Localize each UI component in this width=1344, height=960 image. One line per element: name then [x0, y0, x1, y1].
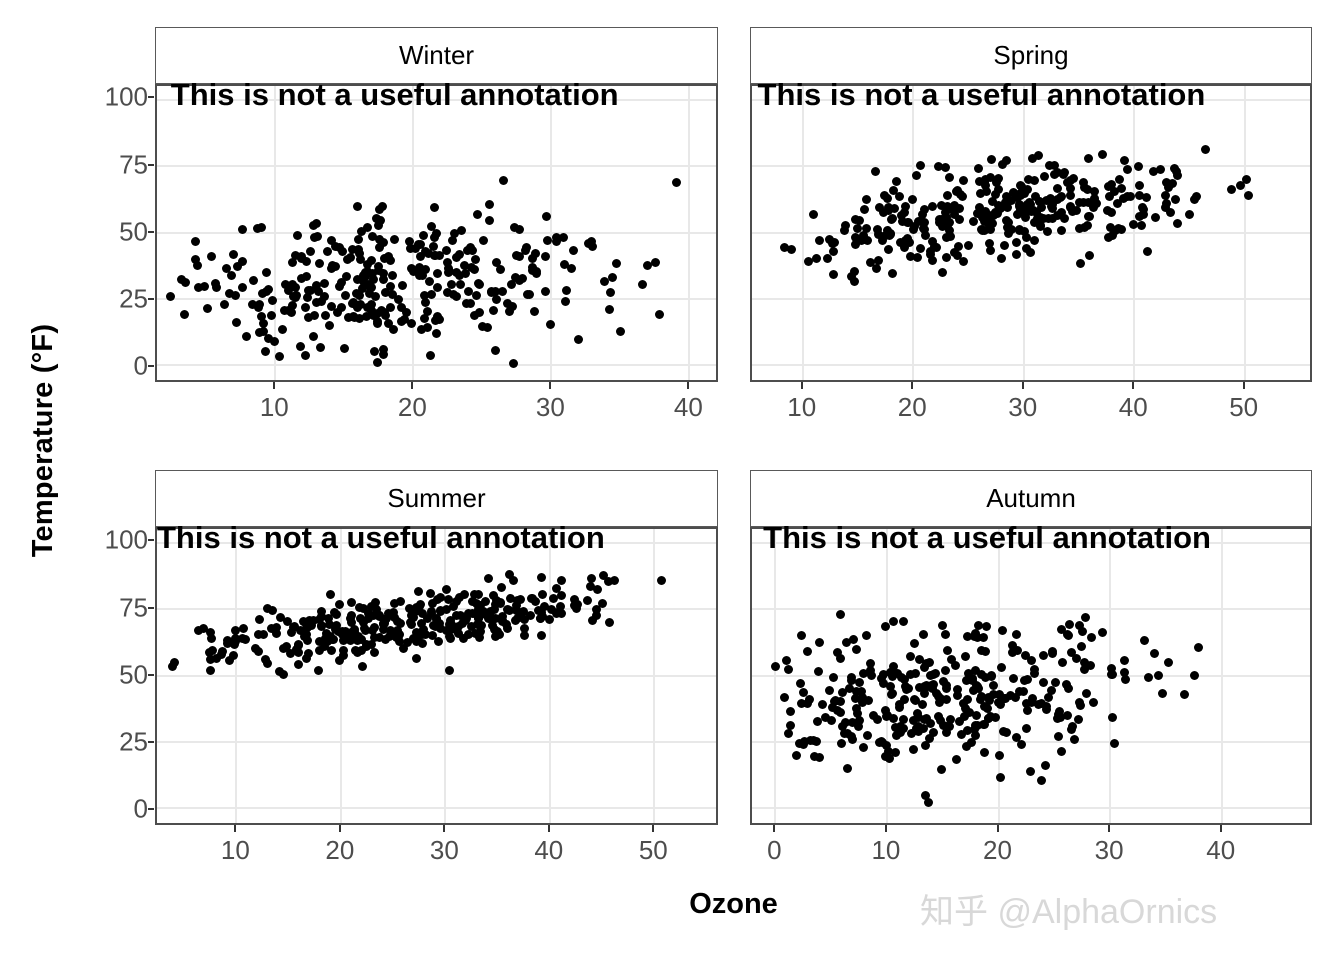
scatter-point [1084, 154, 1093, 163]
scatter-point [270, 337, 279, 346]
scatter-point [1180, 690, 1189, 699]
scatter-point [287, 308, 296, 317]
y-tick-mark [148, 96, 154, 98]
x-tick-mark [1220, 825, 1222, 832]
scatter-point [418, 639, 427, 648]
scatter-point [989, 211, 998, 220]
scatter-point [1012, 238, 1021, 247]
scatter-point [387, 631, 396, 640]
scatter-point [655, 310, 664, 319]
scatter-point [288, 280, 297, 289]
scatter-point [922, 681, 931, 690]
scatter-point [1162, 199, 1171, 208]
scatter-point [1166, 208, 1175, 217]
scatter-point [809, 210, 818, 219]
scatter-point [1081, 613, 1090, 622]
scatter-point [1156, 165, 1165, 174]
scatter-point [925, 658, 934, 667]
scatter-point [1173, 219, 1182, 228]
scatter-point [1135, 181, 1144, 190]
scatter-point [882, 712, 891, 721]
scatter-point [316, 343, 325, 352]
scatter-point [313, 232, 322, 241]
scatter-point [1072, 654, 1081, 663]
gridline-horizontal [752, 298, 1310, 300]
scatter-point [804, 257, 813, 266]
scatter-point [341, 291, 350, 300]
scatter-point [446, 625, 455, 634]
gridline-horizontal [752, 165, 1310, 167]
scatter-point [859, 743, 868, 752]
scatter-point [1048, 204, 1057, 213]
scatter-point [938, 621, 947, 630]
scatter-point [239, 624, 248, 633]
scatter-point [254, 647, 263, 656]
scatter-point [442, 585, 451, 594]
x-tick-label: 50 [639, 835, 668, 866]
gridline-vertical [340, 529, 342, 823]
y-tick-mark [148, 298, 154, 300]
y-tick-mark [148, 674, 154, 676]
annotation-spring: This is not a useful annotation [758, 77, 1206, 113]
scatter-point [858, 698, 867, 707]
scatter-point [996, 773, 1005, 782]
scatter-point [616, 327, 625, 336]
scatter-point [888, 689, 897, 698]
scatter-point [815, 638, 824, 647]
scatter-point [1227, 185, 1236, 194]
scatter-point [849, 635, 858, 644]
scatter-point [358, 662, 367, 671]
scatter-point [426, 351, 435, 360]
scatter-point [1030, 236, 1039, 245]
annotation-summer: This is not a useful annotation [157, 520, 605, 556]
scatter-point [1064, 631, 1073, 640]
scatter-point [208, 646, 217, 655]
scatter-point [326, 590, 335, 599]
scatter-point [1135, 212, 1144, 221]
scatter-point [479, 236, 488, 245]
scatter-point [905, 238, 914, 247]
scatter-point [1075, 698, 1084, 707]
scatter-point [312, 219, 321, 228]
scatter-point [335, 282, 344, 291]
scatter-point [784, 665, 793, 674]
scatter-point [1020, 676, 1029, 685]
scatter-point [1137, 221, 1146, 230]
scatter-point [997, 663, 1006, 672]
scatter-point [420, 314, 429, 323]
scatter-point [225, 656, 234, 665]
scatter-point [369, 311, 378, 320]
scatter-point [878, 738, 887, 747]
scatter-point [916, 161, 925, 170]
scatter-point [881, 622, 890, 631]
scatter-point [1143, 247, 1152, 256]
watermark: 知乎 @AlphaOrnics [920, 884, 1217, 933]
y-tick-label: 75 [78, 149, 148, 180]
scatter-point [450, 229, 459, 238]
scatter-point [1036, 213, 1045, 222]
scatter-point [1120, 156, 1129, 165]
x-tick-label: 40 [1119, 392, 1148, 423]
scatter-point [1057, 747, 1066, 756]
scatter-point [1040, 172, 1049, 181]
scatter-point [904, 684, 913, 693]
scatter-point [431, 251, 440, 260]
scatter-point [362, 642, 371, 651]
scatter-point [1037, 203, 1046, 212]
scatter-point [484, 574, 493, 583]
scatter-point [354, 235, 363, 244]
x-axis-autumn: 010203040 [750, 825, 1312, 871]
scatter-point [954, 242, 963, 251]
scatter-point [461, 269, 470, 278]
scatter-point [541, 287, 550, 296]
scatter-point [315, 259, 324, 268]
scatter-point [914, 727, 923, 736]
gridline-horizontal [157, 807, 716, 809]
gridline-vertical [1133, 86, 1135, 380]
scatter-point [851, 215, 860, 224]
scatter-point [651, 258, 660, 267]
scatter-point [386, 256, 395, 265]
scatter-point [498, 287, 507, 296]
scatter-point [433, 269, 442, 278]
scatter-point [206, 655, 215, 664]
scatter-point [995, 751, 1004, 760]
scatter-point [991, 713, 1000, 722]
scatter-point [1087, 633, 1096, 642]
scatter-point [815, 236, 824, 245]
scatter-point [567, 264, 576, 273]
scatter-point [838, 688, 847, 697]
x-tick-label: 30 [430, 835, 459, 866]
gridline-vertical [802, 86, 804, 380]
x-tick-label: 10 [221, 835, 250, 866]
scatter-point [962, 742, 971, 751]
scatter-point [220, 300, 229, 309]
scatter-point [942, 722, 951, 731]
scatter-point [860, 205, 869, 214]
scatter-point [191, 237, 200, 246]
scatter-point [1079, 198, 1088, 207]
scatter-point [829, 270, 838, 279]
scatter-point [1004, 218, 1013, 227]
scatter-point [638, 280, 647, 289]
scatter-point [812, 254, 821, 263]
scatter-point [606, 288, 615, 297]
scatter-point [414, 587, 423, 596]
scatter-point [848, 718, 857, 727]
scatter-point [899, 715, 908, 724]
scatter-point [537, 631, 546, 640]
scatter-point [1011, 693, 1020, 702]
y-tick-label: 50 [78, 216, 148, 247]
scatter-point [1080, 223, 1089, 232]
scatter-point [390, 235, 399, 244]
scatter-point [412, 654, 421, 663]
x-tick-mark [1243, 382, 1245, 389]
scatter-point [232, 318, 241, 327]
scatter-point [980, 702, 989, 711]
scatter-point [1037, 776, 1046, 785]
scatter-point [301, 303, 310, 312]
scatter-point [306, 247, 315, 256]
scatter-point [965, 708, 974, 717]
gridline-horizontal [157, 298, 716, 300]
gridline-horizontal [157, 364, 716, 366]
scatter-point [526, 611, 535, 620]
scatter-point [320, 279, 329, 288]
scatter-point [1150, 649, 1159, 658]
scatter-point [287, 628, 296, 637]
scatter-point [569, 246, 578, 255]
scatter-point [333, 308, 342, 317]
scatter-point [415, 271, 424, 280]
annotation-winter: This is not a useful annotation [171, 77, 619, 113]
x-tick-mark [652, 825, 654, 832]
scatter-point [259, 327, 268, 336]
scatter-point [867, 671, 876, 680]
scatter-point [880, 191, 889, 200]
scatter-point [932, 689, 941, 698]
scatter-point [885, 754, 894, 763]
scatter-point [1076, 259, 1085, 268]
x-tick-label: 40 [1206, 835, 1235, 866]
scatter-point [452, 292, 461, 301]
scatter-point [955, 215, 964, 224]
scatter-point [464, 287, 473, 296]
scatter-point [1244, 191, 1253, 200]
y-axis-ticks-row1: 0255075100 [70, 84, 148, 382]
scatter-point [1085, 251, 1094, 260]
scatter-point [355, 291, 364, 300]
x-tick-mark [885, 825, 887, 832]
scatter-point [227, 271, 236, 280]
scatter-point [947, 655, 956, 664]
scatter-point [796, 679, 805, 688]
x-tick-label: 30 [1008, 392, 1037, 423]
scatter-point [262, 268, 271, 277]
scatter-point [546, 320, 555, 329]
scatter-point [919, 630, 928, 639]
scatter-point [1236, 181, 1245, 190]
scatter-point [309, 332, 318, 341]
scatter-point [328, 261, 337, 270]
scatter-point [353, 202, 362, 211]
scatter-point [512, 251, 521, 260]
y-tick-mark [148, 539, 154, 541]
scatter-point [416, 252, 425, 261]
scatter-point [657, 576, 666, 585]
scatter-point [919, 218, 928, 227]
scatter-point [1142, 193, 1151, 202]
scatter-point [836, 610, 845, 619]
scatter-point [910, 222, 919, 231]
scatter-point [522, 243, 531, 252]
scatter-point [499, 176, 508, 185]
scatter-point [304, 649, 313, 658]
scatter-point [999, 727, 1008, 736]
scatter-point [952, 755, 961, 764]
scatter-point [253, 224, 262, 233]
scatter-point [1140, 636, 1149, 645]
scatter-point [1022, 724, 1031, 733]
scatter-point [1012, 630, 1021, 639]
x-tick-label: 10 [871, 835, 900, 866]
strip-label-autumn: Autumn [986, 483, 1076, 514]
scatter-point [918, 700, 927, 709]
scatter-point [935, 215, 944, 224]
scatter-point [1171, 195, 1180, 204]
scatter-point [335, 656, 344, 665]
y-tick-mark [148, 808, 154, 810]
scatter-point [969, 217, 978, 226]
x-tick-mark [687, 382, 689, 389]
scatter-point [1110, 187, 1119, 196]
scatter-point [888, 269, 897, 278]
y-tick-label: 25 [78, 726, 148, 757]
scatter-point [896, 722, 905, 731]
scatter-point [379, 275, 388, 284]
scatter-point [229, 250, 238, 259]
scatter-point [516, 595, 525, 604]
scatter-point [959, 699, 968, 708]
scatter-point [608, 273, 617, 282]
scatter-point [372, 214, 381, 223]
scatter-point [782, 656, 791, 665]
gridline-horizontal [752, 232, 1310, 234]
scatter-point [168, 662, 177, 671]
scatter-point [231, 626, 240, 635]
scatter-point [1201, 145, 1210, 154]
scatter-point [871, 167, 880, 176]
scatter-point [937, 201, 946, 210]
x-tick-label: 40 [674, 392, 703, 423]
scatter-point [297, 252, 306, 261]
scatter-point [206, 628, 215, 637]
scatter-point [459, 634, 468, 643]
scatter-point [355, 314, 364, 323]
scatter-point [913, 253, 922, 262]
scatter-point [605, 305, 614, 314]
scatter-point [419, 231, 428, 240]
scatter-point [612, 259, 621, 268]
scatter-point [1063, 711, 1072, 720]
scatter-point [538, 612, 547, 621]
scatter-point [1104, 233, 1113, 242]
strip-label-winter: Winter [399, 40, 474, 71]
scatter-point [908, 195, 917, 204]
scatter-point [1078, 627, 1087, 636]
scatter-point [869, 711, 878, 720]
scatter-point [370, 347, 379, 356]
plot-panel-spring [750, 84, 1312, 382]
x-tick-mark [911, 382, 913, 389]
scatter-point [780, 693, 789, 702]
scatter-point [989, 681, 998, 690]
scatter-point [829, 673, 838, 682]
scatter-point [1050, 161, 1059, 170]
scatter-point [1039, 678, 1048, 687]
scatter-point [373, 358, 382, 367]
scatter-point [180, 310, 189, 319]
scatter-point [977, 646, 986, 655]
x-tick-label: 0 [767, 835, 781, 866]
scatter-point [506, 594, 515, 603]
scatter-point [531, 249, 540, 258]
x-tick-label: 30 [536, 392, 565, 423]
scatter-point [1048, 649, 1057, 658]
scatter-point [497, 583, 506, 592]
scatter-point [475, 633, 484, 642]
scatter-point [509, 359, 518, 368]
scatter-point [895, 703, 904, 712]
scatter-point [238, 283, 247, 292]
scatter-point [278, 325, 287, 334]
scatter-point [1057, 208, 1066, 217]
scatter-point [1085, 212, 1094, 221]
scatter-point [388, 271, 397, 280]
x-tick-mark [549, 382, 551, 389]
scatter-point [1120, 656, 1129, 665]
scatter-point [557, 591, 566, 600]
gridline-vertical [774, 529, 776, 823]
plot-panel-summer [155, 527, 718, 825]
scatter-point [889, 617, 898, 626]
x-axis-spring: 1020304050 [750, 382, 1312, 428]
scatter-point [588, 616, 597, 625]
scatter-point [913, 709, 922, 718]
scatter-point [1120, 668, 1129, 677]
scatter-point [1070, 735, 1079, 744]
scatter-point [332, 610, 341, 619]
scatter-point [892, 177, 901, 186]
gridline-horizontal [157, 165, 716, 167]
scatter-point [1164, 658, 1173, 667]
scatter-point [974, 621, 983, 630]
scatter-point [530, 307, 539, 316]
scatter-point [1098, 150, 1107, 159]
scatter-point [941, 630, 950, 639]
x-tick-label: 20 [325, 835, 354, 866]
scatter-point [485, 200, 494, 209]
scatter-point [402, 308, 411, 317]
scatter-point [1134, 162, 1143, 171]
scatter-point [818, 700, 827, 709]
scatter-point [797, 631, 806, 640]
scatter-point [928, 202, 937, 211]
scatter-point [592, 605, 601, 614]
scatter-point [889, 186, 898, 195]
y-tick-mark [148, 231, 154, 233]
scatter-point [884, 245, 893, 254]
scatter-point [379, 345, 388, 354]
scatter-point [605, 618, 614, 627]
scatter-point [814, 667, 823, 676]
scatter-point [181, 278, 190, 287]
gridline-vertical [235, 529, 237, 823]
scatter-point [207, 252, 216, 261]
scatter-point [557, 576, 566, 585]
x-tick-mark [801, 382, 803, 389]
scatter-point [1039, 651, 1048, 660]
scatter-point [275, 352, 284, 361]
x-tick-label: 50 [1229, 392, 1258, 423]
scatter-point [959, 176, 968, 185]
scatter-point [982, 187, 991, 196]
